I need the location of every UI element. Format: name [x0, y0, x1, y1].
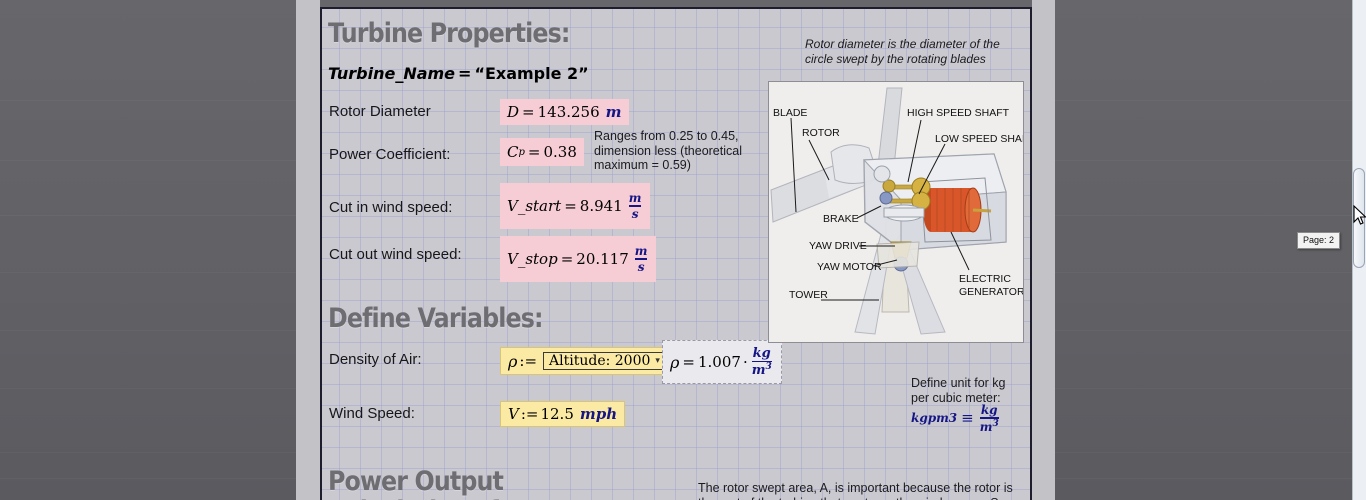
math-region-density-of-air[interactable]: ρ := Altitude: 2000 ▾: [500, 347, 673, 375]
label-cut-in-wind-speed: Cut in wind speed:: [329, 199, 452, 216]
density-variable: ρ: [508, 352, 517, 371]
note-define-unit-kgpm3: Define unit for kg per cubic meter:: [911, 376, 1021, 405]
cut-in-unit-fraction: m s: [629, 192, 642, 220]
page-number-tooltip: Page: 2: [1297, 232, 1340, 249]
cut-out-variable: V_stop: [507, 250, 558, 268]
density-operator: :=: [519, 352, 537, 370]
cut-out-unit-denominator: s: [638, 260, 645, 273]
math-region-power-coefficient[interactable]: Cp = 0.38: [500, 138, 584, 166]
power-coefficient-subscript: p: [518, 147, 524, 158]
math-region-kgpm3-definition[interactable]: kgpm3 ≡ kg m3: [911, 404, 1001, 433]
density-unit-numerator: kg: [753, 347, 771, 361]
wind-speed-unit: mph: [580, 405, 617, 423]
figure-label-blade: BLADE: [773, 107, 807, 119]
page-margin-left: [296, 0, 320, 500]
math-region-cut-in-wind-speed[interactable]: V_start = 8.941 m s: [500, 183, 650, 229]
page-canvas: Turbine Properties: Turbine_Name = “Exam…: [322, 9, 1030, 500]
power-coefficient-value: 0.38: [543, 143, 576, 161]
density-result-operator: =: [682, 353, 695, 371]
altitude-dropdown[interactable]: Altitude: 2000 ▾: [543, 352, 665, 370]
cut-out-unit-numerator: m: [635, 245, 648, 258]
cut-in-variable: V_start: [507, 197, 561, 215]
page-margin-right: [1032, 0, 1055, 500]
turbine-cutaway-svg: BLADE ROTOR HIGH SPEED SHAFT LOW SPEED S…: [769, 82, 1023, 342]
wind-speed-value: 12.5: [540, 405, 573, 423]
math-region-density-result[interactable]: ρ = 1.007 · kg m3: [662, 340, 782, 384]
math-region-turbine-name[interactable]: Turbine_Name = “Example 2”: [328, 64, 589, 83]
cut-out-value: 20.117: [576, 250, 629, 268]
density-result-value: 1.007: [698, 353, 741, 371]
cut-out-unit-fraction: m s: [635, 245, 648, 273]
section-heading-turbine-properties: Turbine Properties:: [328, 19, 570, 49]
label-power-coefficient: Power Coefficient:: [329, 146, 450, 163]
label-wind-speed: Wind Speed:: [329, 405, 415, 422]
density-result-unit-fraction: kg m3: [752, 347, 772, 378]
note-power-coefficient-range: Ranges from 0.25 to 0.45, dimension less…: [594, 129, 754, 173]
kgpm3-operator: ≡: [961, 409, 974, 427]
note-rotor-swept-area: The rotor swept area, A, is important be…: [698, 481, 1016, 500]
kgpm3-fraction: kg m3: [980, 404, 999, 433]
figure-label-brake: BRAKE: [823, 213, 859, 225]
figure-caption-rotor-diameter: Rotor diameter is the diameter of the ci…: [805, 37, 1020, 67]
figure-label-yaw-motor: YAW MOTOR: [817, 261, 882, 273]
power-coefficient-operator: =: [528, 143, 541, 161]
math-region-wind-speed[interactable]: V := 12.5 mph: [500, 401, 625, 427]
section-heading-power-output: Power Output Calculations for: [328, 467, 627, 500]
power-coefficient-variable: C: [507, 143, 518, 161]
chevron-down-icon[interactable]: ▾: [655, 357, 660, 366]
figure-label-tower: TOWER: [789, 289, 828, 301]
label-cut-out-wind-speed: Cut out wind speed:: [329, 246, 462, 263]
figure-label-low-speed-shaft: LOW SPEED SHAFT: [935, 133, 1023, 145]
rotor-diameter-unit: m: [606, 103, 622, 121]
label-density-of-air: Density of Air:: [329, 351, 422, 368]
wind-speed-operator: :=: [521, 405, 539, 423]
cut-in-unit-denominator: s: [632, 207, 639, 220]
rotor-diameter-value: 143.256: [538, 103, 600, 121]
density-unit-denominator: m3: [752, 362, 772, 377]
figure-label-yaw-drive: YAW DRIVE: [809, 240, 867, 252]
figure-label-rotor: ROTOR: [802, 127, 840, 139]
turbine-name-variable: Turbine_Name: [328, 64, 455, 83]
document-page[interactable]: Turbine Properties: Turbine_Name = “Exam…: [320, 7, 1032, 500]
figure-label-electric-generator: ELECTRIC: [959, 273, 1011, 285]
cut-in-operator: =: [564, 197, 577, 215]
figure-label-electric-generator-2: GENERATOR: [959, 286, 1023, 298]
figure-label-high-speed-shaft: HIGH SPEED SHAFT: [907, 107, 1010, 119]
kgpm3-numerator: kg: [981, 404, 998, 417]
cut-in-unit-numerator: m: [629, 192, 642, 205]
kgpm3-denominator: m3: [980, 419, 999, 433]
rotor-diameter-variable: D: [507, 103, 519, 121]
rotor-diameter-operator: =: [522, 103, 535, 121]
vertical-scrollbar[interactable]: [1352, 0, 1366, 500]
wind-turbine-diagram-image: BLADE ROTOR HIGH SPEED SHAFT LOW SPEED S…: [768, 81, 1024, 343]
math-region-cut-out-wind-speed[interactable]: V_stop = 20.117 m s: [500, 236, 656, 282]
wind-speed-variable: V: [508, 405, 519, 423]
turbine-name-operator: =: [458, 64, 471, 83]
density-result-variable: ρ: [670, 353, 679, 372]
cut-out-operator: =: [561, 250, 574, 268]
cut-in-value: 8.941: [580, 197, 623, 215]
mouse-cursor: [1353, 205, 1366, 225]
math-region-rotor-diameter[interactable]: D = 143.256 m: [500, 99, 629, 125]
altitude-dropdown-value: Altitude: 2000: [549, 353, 650, 369]
section-heading-define-variables: Define Variables:: [328, 304, 543, 334]
kgpm3-name: kgpm3: [911, 411, 957, 425]
turbine-name-value: “Example 2”: [474, 64, 588, 83]
label-rotor-diameter: Rotor Diameter: [329, 103, 431, 120]
